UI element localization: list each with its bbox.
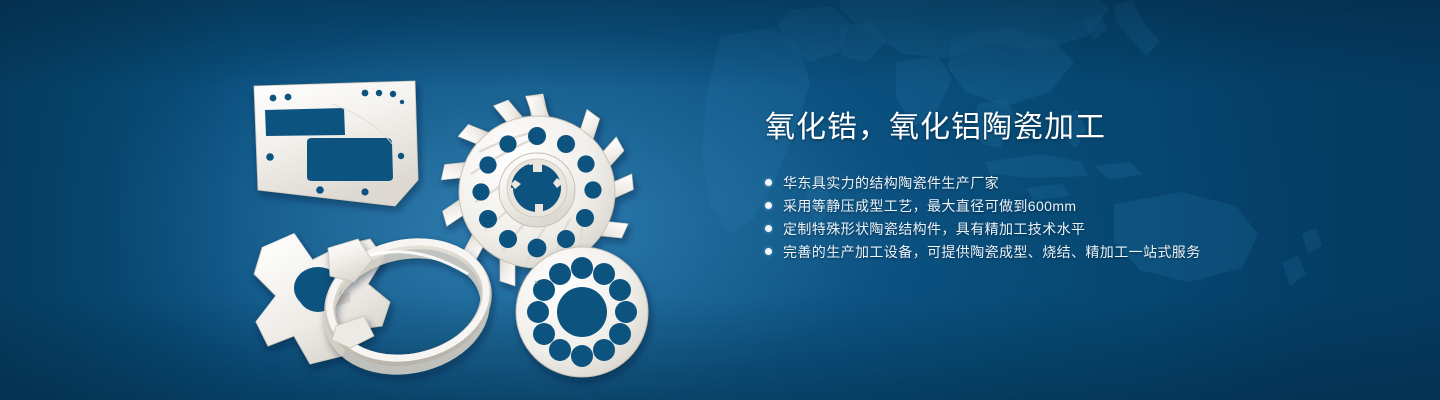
ceramic-processing-banner: 氧化锆，氧化铝陶瓷加工 华东具实力的结构陶瓷件生产厂家 采用等静压成型工艺，最大… <box>0 0 1440 400</box>
list-item: 采用等静压成型工艺，最大直径可做到600mm <box>765 194 1385 217</box>
bullet-dot-icon <box>765 225 772 232</box>
bullet-dot-icon <box>765 248 772 255</box>
list-item: 华东具实力的结构陶瓷件生产厂家 <box>765 171 1385 194</box>
ceramic-products-photo <box>232 34 692 384</box>
list-item: 定制特殊形状陶瓷结构件，具有精加工技术水平 <box>765 217 1385 240</box>
list-item-label: 采用等静压成型工艺，最大直径可做到600mm <box>783 196 1076 216</box>
list-item-label: 完善的生产加工设备，可提供陶瓷成型、烧结、精加工一站式服务 <box>783 242 1201 262</box>
bullet-dot-icon <box>765 202 772 209</box>
page-title: 氧化锆，氧化铝陶瓷加工 <box>765 108 1385 148</box>
ceramic-mounting-plate <box>254 81 418 206</box>
banner-copy: 氧化锆，氧化铝陶瓷加工 华东具实力的结构陶瓷件生产厂家 采用等静压成型工艺，最大… <box>765 108 1385 263</box>
list-item-label: 定制特殊形状陶瓷结构件，具有精加工技术水平 <box>783 219 1085 239</box>
ceramic-perforated-disc <box>516 247 648 377</box>
bullet-dot-icon <box>765 179 772 186</box>
list-item: 完善的生产加工设备，可提供陶瓷成型、烧结、精加工一站式服务 <box>765 240 1385 263</box>
feature-list: 华东具实力的结构陶瓷件生产厂家 采用等静压成型工艺，最大直径可做到600mm 定… <box>765 171 1385 263</box>
list-item-label: 华东具实力的结构陶瓷件生产厂家 <box>783 173 999 193</box>
